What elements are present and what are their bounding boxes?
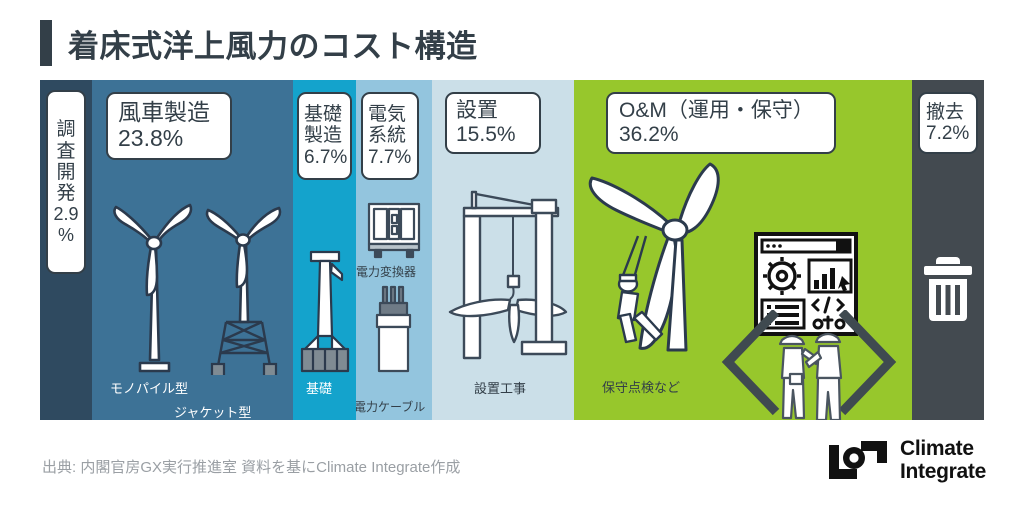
segment-name-electric-2: 系統 (368, 125, 412, 146)
logo-wordmark: Climate Integrate (900, 438, 986, 483)
climate-integrate-logo: Climate Integrate (827, 437, 986, 485)
caption-installation-work: 設置工事 (474, 378, 526, 397)
segment-value-foundation: 6.7% (304, 147, 345, 168)
segment-name-om: O&M（運用・保守） (619, 99, 823, 123)
caption-power-cable: 電力ケーブル (356, 398, 425, 415)
segment-name-foundation-1: 基礎 (304, 104, 345, 125)
segment-name-removal: 撤去 (926, 102, 970, 123)
segment-name-turbine: 風車製造 (118, 100, 220, 126)
caption-power-converter: 電力変換器 (356, 263, 416, 280)
segment-value-turbine: 23.8% (118, 126, 220, 152)
segment-foundation[interactable]: 基礎 製造 6.7% 基礎 (293, 80, 356, 420)
segment-value-research: 2.9 (53, 204, 78, 224)
monopile-turbine-illustration (110, 185, 196, 380)
inspection-workers-illustration (772, 332, 852, 420)
label-char-4: 発 (56, 183, 75, 204)
logo-mark-icon (827, 437, 889, 485)
foundation-illustration (298, 250, 352, 375)
caption-monopile: モノパイル型 (110, 378, 188, 397)
logo-line-2: Integrate (900, 461, 986, 484)
segment-value-install: 15.5% (456, 123, 530, 147)
caption-jacket: ジャケット型 (174, 402, 251, 420)
segment-name-install: 設置 (456, 99, 530, 123)
segment-label-foundation: 基礎 製造 6.7% (297, 92, 352, 180)
label-char-2: 査 (56, 141, 75, 162)
segment-label-research: 調 査 開 発 2.9 % (46, 90, 86, 274)
segment-value-removal: 7.2% (926, 123, 970, 144)
segment-research[interactable]: 調 査 開 発 2.9 % (40, 80, 92, 420)
segment-label-removal: 撤去 7.2% (918, 92, 978, 154)
segment-install[interactable]: 設置 15.5% (432, 80, 574, 420)
jacket-turbine-illustration (202, 190, 286, 375)
power-converter-illustration (366, 200, 422, 260)
source-note: 出典: 内閣官房GX実行推進室 資料を基にClimate Integrate作成 (42, 456, 460, 477)
segment-label-om: O&M（運用・保守） 36.2% (606, 92, 836, 154)
segment-value-om: 36.2% (619, 123, 823, 147)
segment-name-foundation-2: 製造 (304, 125, 345, 146)
label-char-1: 調 (56, 119, 75, 140)
segment-turbine[interactable]: 風車製造 23.8% (92, 80, 293, 420)
segment-value-electric: 7.7% (368, 147, 412, 168)
caption-maintenance: 保守点検など (602, 377, 680, 396)
label-char-3: 開 (56, 162, 75, 183)
segment-label-electric: 電気 系統 7.7% (361, 92, 419, 180)
installation-crane-illustration (440, 172, 568, 362)
power-cable-illustration (370, 285, 418, 377)
title-text: 着床式洋上風力のコスト構造 (68, 21, 478, 66)
segment-name-electric-1: 電気 (368, 104, 412, 125)
percent-sign: % (58, 225, 74, 245)
title-accent-bar (40, 20, 52, 66)
caption-foundation: 基礎 (306, 378, 332, 397)
logo-line-1: Climate (900, 438, 986, 461)
segment-label-install: 設置 15.5% (445, 92, 541, 154)
page-title: 着床式洋上風力のコスト構造 (40, 20, 478, 66)
segment-electric[interactable]: 電気 系統 7.7% 電力変換器 (356, 80, 432, 420)
segment-removal[interactable]: 撤去 7.2% (912, 80, 984, 420)
cost-structure-chart: 調 査 開 発 2.9 % 風車製造 23.8% (40, 80, 984, 420)
trash-can-icon (922, 255, 974, 325)
segment-om[interactable]: O&M（運用・保守） 36.2% (574, 80, 912, 420)
segment-label-turbine: 風車製造 23.8% (106, 92, 232, 160)
